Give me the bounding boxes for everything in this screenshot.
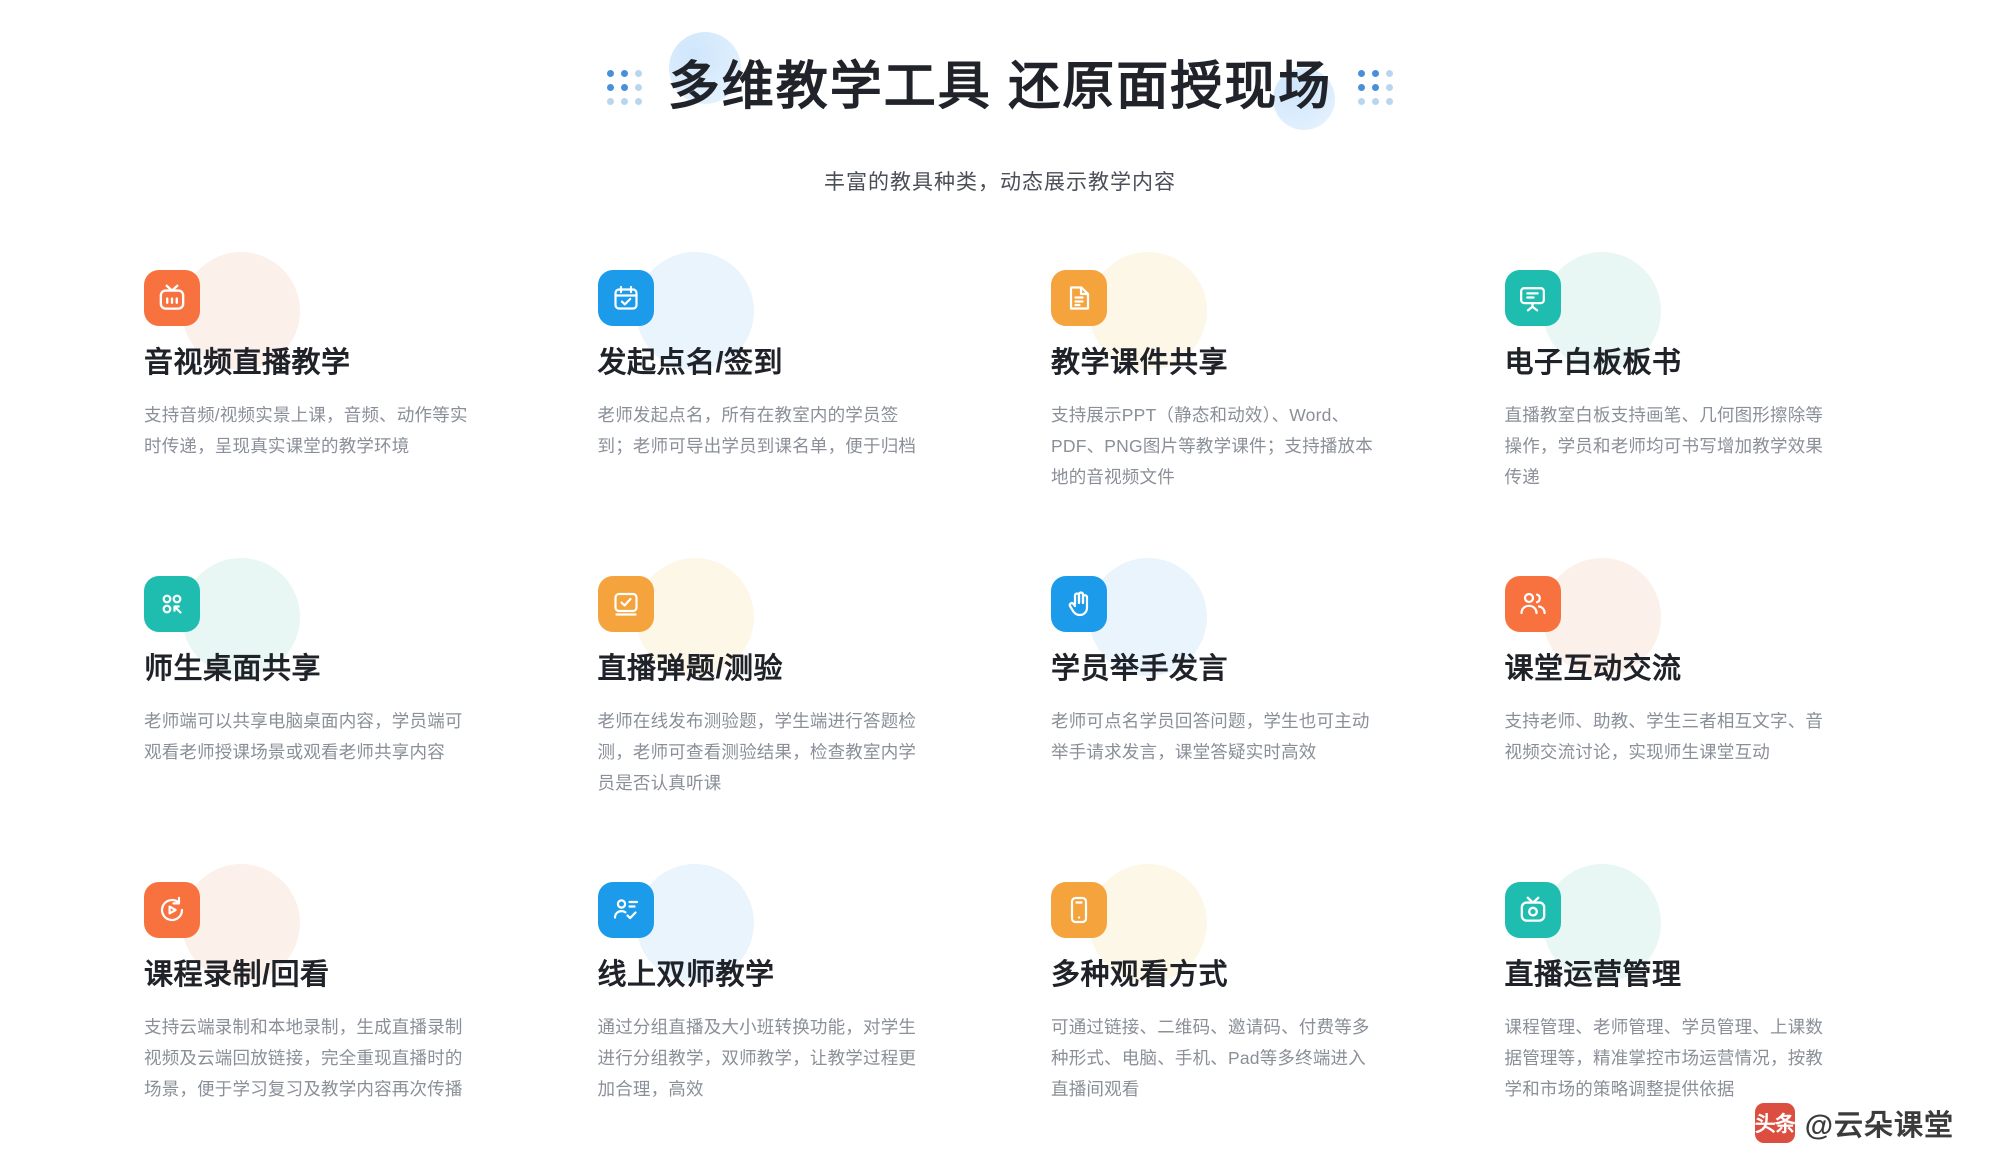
feature-title: 直播运营管理 xyxy=(1505,960,1865,992)
feature-description: 支持音频/视频实景上课，音频、动作等实时传递，呈现真实课堂的教学环境 xyxy=(144,400,474,462)
feature-card[interactable]: 发起点名/签到老师发起点名，所有在教室内的学员签到；老师可导出学员到课名单，便于… xyxy=(598,270,958,576)
live-manage-icon[interactable] xyxy=(1505,882,1561,938)
watermark-badge: 头条 xyxy=(1755,1103,1795,1143)
landing-page: 多维教学工具 还原面授现场 丰富的教具种类，动态展示教学内容 音视频直播教学支持… xyxy=(0,0,2000,1170)
feature-grid: 音视频直播教学支持音频/视频实景上课，音频、动作等实时传递，呈现真实课堂的教学环… xyxy=(60,270,1940,1170)
desktop-share-icon[interactable] xyxy=(144,576,200,632)
page-header: 多维教学工具 还原面授现场 丰富的教具种类，动态展示教学内容 xyxy=(0,0,2000,196)
feature-card[interactable]: 课程录制/回看支持云端录制和本地录制，生成直播录制视频及云端回放链接，完全重现直… xyxy=(144,882,504,1170)
quiz-check-icon[interactable] xyxy=(598,576,654,632)
feature-description: 老师可点名学员回答问题，学生也可主动举手请求发言，课堂答疑实时高效 xyxy=(1051,706,1381,768)
feature-card[interactable]: 学员举手发言老师可点名学员回答问题，学生也可主动举手请求发言，课堂答疑实时高效 xyxy=(1051,576,1411,882)
raise-hand-icon[interactable] xyxy=(1051,576,1107,632)
watermark: 头条 @云朵课堂 xyxy=(1755,1102,1954,1144)
tv-broadcast-icon[interactable] xyxy=(144,270,200,326)
group-users-icon[interactable] xyxy=(1505,576,1561,632)
dot-grid-right-icon xyxy=(1358,70,1393,105)
feature-card[interactable]: 课堂互动交流支持老师、助教、学生三者相互文字、音视频交流讨论，实现师生课堂互动 xyxy=(1505,576,1865,882)
page-subtitle: 丰富的教具种类，动态展示教学内容 xyxy=(0,166,2000,196)
page-title: 多维教学工具 还原面授现场 xyxy=(668,61,1332,113)
calendar-check-icon[interactable] xyxy=(598,270,654,326)
feature-description: 支持老师、助教、学生三者相互文字、音视频交流讨论，实现师生课堂互动 xyxy=(1505,706,1835,768)
feature-card[interactable]: 线上双师教学通过分组直播及大小班转换功能，对学生进行分组教学，双师教学，让教学过… xyxy=(598,882,958,1170)
feature-title: 学员举手发言 xyxy=(1051,654,1411,686)
watermark-text: @云朵课堂 xyxy=(1805,1102,1954,1144)
replay-icon[interactable] xyxy=(144,882,200,938)
dual-teacher-icon[interactable] xyxy=(598,882,654,938)
feature-title: 线上双师教学 xyxy=(598,960,958,992)
feature-description: 课程管理、老师管理、学员管理、上课数据管理等，精准掌控市场运营情况，按教学和市场… xyxy=(1505,1012,1835,1105)
feature-title: 电子白板板书 xyxy=(1505,348,1865,380)
feature-description: 直播教室白板支持画笔、几何图形擦除等操作，学员和老师均可书写增加教学效果传递 xyxy=(1505,400,1835,493)
feature-card[interactable]: 师生桌面共享老师端可以共享电脑桌面内容，学员端可观看老师授课场景或观看老师共享内… xyxy=(144,576,504,882)
feature-description: 可通过链接、二维码、邀请码、付费等多种形式、电脑、手机、Pad等多终端进入直播间… xyxy=(1051,1012,1381,1105)
feature-description: 支持云端录制和本地录制，生成直播录制视频及云端回放链接，完全重现直播时的场景，便… xyxy=(144,1012,474,1105)
feature-title: 音视频直播教学 xyxy=(144,348,504,380)
feature-title: 课程录制/回看 xyxy=(144,960,504,992)
feature-title: 直播弹题/测验 xyxy=(598,654,958,686)
feature-title: 教学课件共享 xyxy=(1051,348,1411,380)
feature-card[interactable]: 直播弹题/测验老师在线发布测验题，学生端进行答题检测，老师可查看测验结果，检查教… xyxy=(598,576,958,882)
feature-title: 发起点名/签到 xyxy=(598,348,958,380)
dot-grid-left-icon xyxy=(607,70,642,105)
feature-description: 老师发起点名，所有在教室内的学员签到；老师可导出学员到课名单，便于归档 xyxy=(598,400,928,462)
feature-card[interactable]: 教学课件共享支持展示PPT（静态和动效）、Word、PDF、PNG图片等教学课件… xyxy=(1051,270,1411,576)
feature-card[interactable]: 多种观看方式可通过链接、二维码、邀请码、付费等多种形式、电脑、手机、Pad等多终… xyxy=(1051,882,1411,1170)
feature-description: 支持展示PPT（静态和动效）、Word、PDF、PNG图片等教学课件；支持播放本… xyxy=(1051,400,1381,493)
mobile-device-icon[interactable] xyxy=(1051,882,1107,938)
feature-description: 老师端可以共享电脑桌面内容，学员端可观看老师授课场景或观看老师共享内容 xyxy=(144,706,474,768)
feature-title: 师生桌面共享 xyxy=(144,654,504,686)
title-row: 多维教学工具 还原面授现场 xyxy=(607,44,1393,130)
feature-description: 老师在线发布测验题，学生端进行答题检测，老师可查看测验结果，检查教室内学员是否认… xyxy=(598,706,928,799)
feature-title: 课堂互动交流 xyxy=(1505,654,1865,686)
whiteboard-icon[interactable] xyxy=(1505,270,1561,326)
feature-description: 通过分组直播及大小班转换功能，对学生进行分组教学，双师教学，让教学过程更加合理，… xyxy=(598,1012,928,1105)
feature-card[interactable]: 电子白板板书直播教室白板支持画笔、几何图形擦除等操作，学员和老师均可书写增加教学… xyxy=(1505,270,1865,576)
feature-card[interactable]: 音视频直播教学支持音频/视频实景上课，音频、动作等实时传递，呈现真实课堂的教学环… xyxy=(144,270,504,576)
feature-title: 多种观看方式 xyxy=(1051,960,1411,992)
document-icon[interactable] xyxy=(1051,270,1107,326)
